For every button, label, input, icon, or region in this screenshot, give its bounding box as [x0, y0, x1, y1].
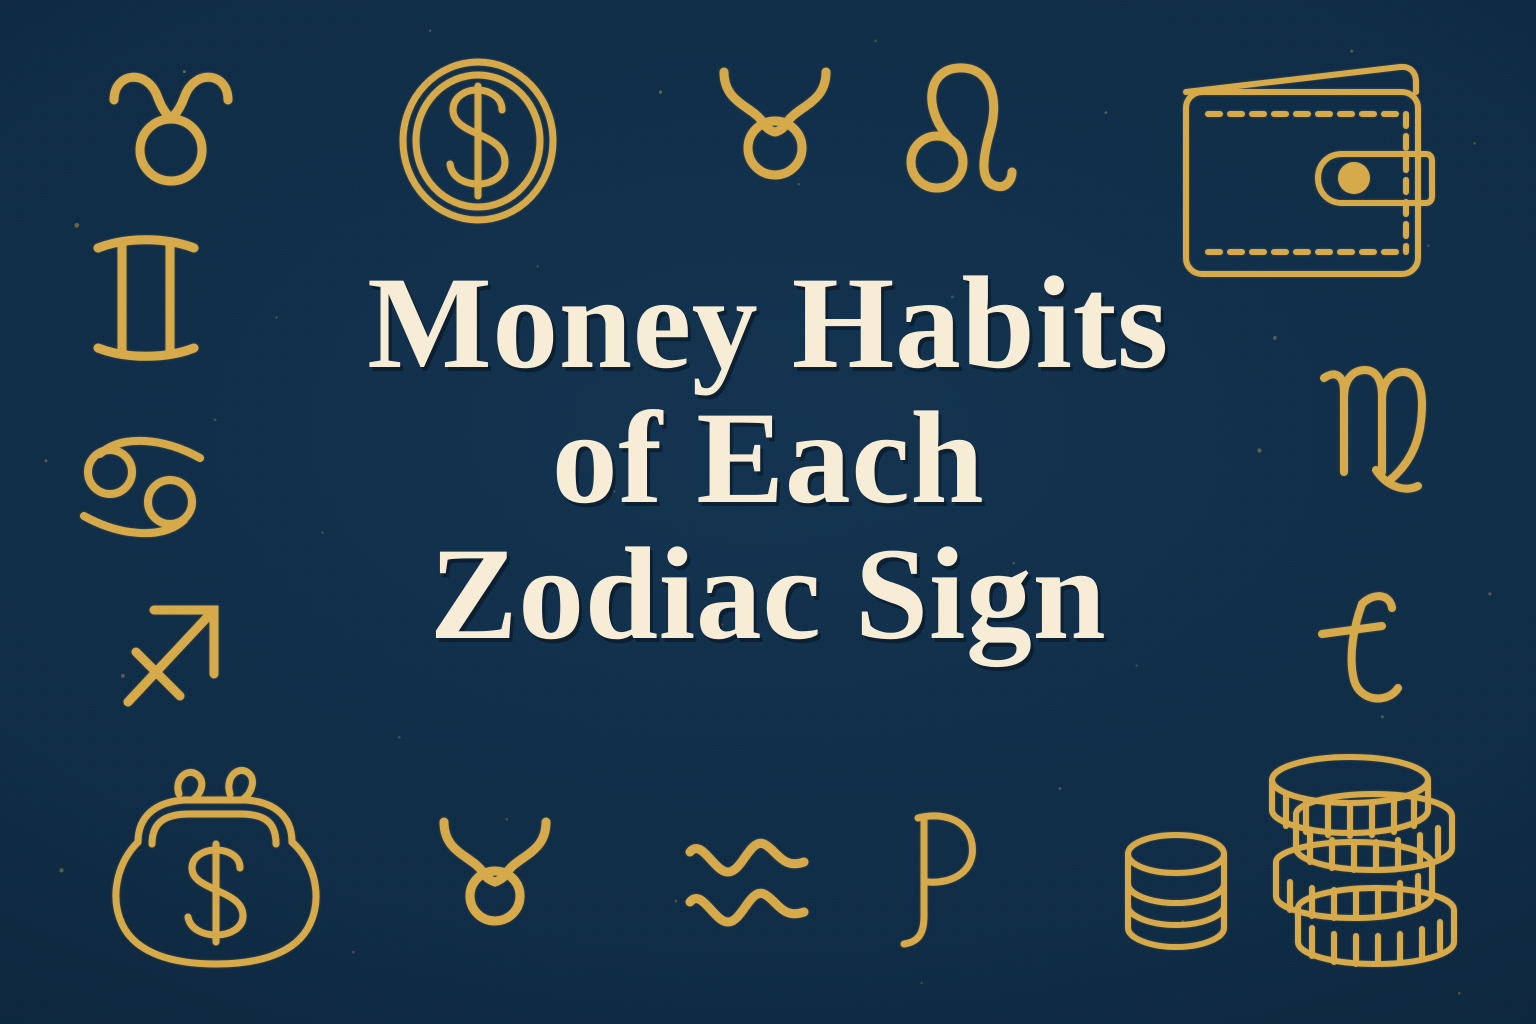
leo-symbol-icon	[900, 60, 1020, 200]
title-line-1: Money Habits	[0, 258, 1536, 387]
poster-title: Money Habits of Each Zodiac Sign	[0, 258, 1536, 658]
coin-stack-large-icon	[1262, 752, 1462, 978]
taurus-symbol-top-left-icon	[96, 52, 246, 182]
pluto-symbol-icon	[898, 806, 986, 952]
poster-canvas: Money Habits of Each Zodiac Sign	[0, 0, 1536, 1024]
title-line-2: of Each	[0, 393, 1536, 522]
dollar-coin-icon	[398, 58, 558, 224]
taurus-symbol-bottom-icon	[436, 812, 554, 924]
coin-purse-icon	[104, 758, 336, 970]
aquarius-symbol-icon	[684, 838, 810, 930]
title-line-3: Zodiac Sign	[0, 529, 1536, 658]
wallet-icon	[1178, 62, 1440, 284]
taurus-symbol-top-center-icon	[712, 58, 838, 176]
coin-stack-small-icon	[1122, 828, 1230, 954]
